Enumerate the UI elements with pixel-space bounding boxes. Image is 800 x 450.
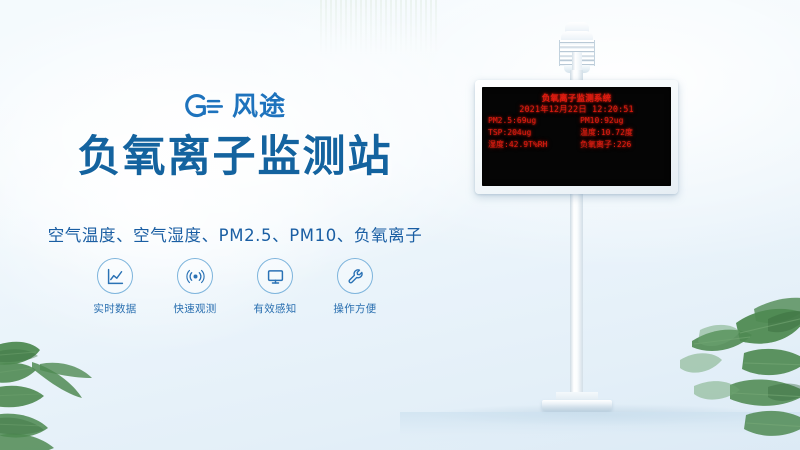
led-reading-row: PM2.5:69ug PM10:92ug (488, 117, 665, 125)
feature-label: 操作方便 (333, 301, 376, 316)
led-reading-negative-ion: 负氧离子:226 (580, 141, 665, 149)
wrench-icon (346, 267, 365, 286)
led-reading-row: 湿度:42.9T%RH 负氧离子:226 (488, 141, 665, 149)
page-title: 负氧离子监测站 (0, 133, 470, 181)
led-reading-row: TSP:204ug 温度:10.72度 (488, 129, 665, 137)
led-screen: 负氧离子监测系统 2021年12月22日 12:20:51 PM2.5:69ug… (482, 87, 671, 186)
feature-item-realtime-data[interactable]: 实时数据 (87, 258, 143, 316)
hero-text-panel: 风途 负氧离子监测站 空气温度、空气湿度、PM2.5、PM10、负氧离子 实时数… (0, 0, 470, 450)
led-reading-pm10: PM10:92ug (580, 117, 665, 125)
feature-item-fast-observation[interactable]: 快速观测 (167, 258, 223, 316)
monitoring-station: 负氧离子监测系统 2021年12月22日 12:20:51 PM2.5:69ug… (430, 0, 800, 450)
monitor-icon (266, 267, 285, 286)
feature-label: 实时数据 (93, 301, 136, 316)
feature-item-effective-sensing[interactable]: 有效感知 (247, 258, 303, 316)
feature-icon-circle (177, 258, 213, 294)
led-reading-humidity: 湿度:42.9T%RH (488, 141, 580, 149)
led-reading-temperature: 温度:10.72度 (580, 129, 665, 137)
feature-icon-circle (257, 258, 293, 294)
line-chart-icon (106, 267, 125, 286)
led-reading-tsp: TSP:204ug (488, 129, 580, 137)
brand-logo: 风途 (0, 93, 470, 121)
signal-radar-icon (186, 267, 205, 286)
feature-label: 快速观测 (173, 301, 216, 316)
led-display-panel[interactable]: 负氧离子监测系统 2021年12月22日 12:20:51 PM2.5:69ug… (475, 80, 678, 194)
feature-label: 有效感知 (253, 301, 296, 316)
feature-list: 实时数据 快速观测 (0, 258, 470, 316)
feature-item-easy-operation[interactable]: 操作方便 (327, 258, 383, 316)
wind-swirl-logo-icon (184, 93, 224, 121)
feature-icon-circle (97, 258, 133, 294)
brand-name: 风途 (232, 94, 286, 120)
ground-surface (400, 412, 800, 450)
led-reading-pm25: PM2.5:69ug (488, 117, 580, 125)
feature-icon-circle (337, 258, 373, 294)
led-datetime: 2021年12月22日 12:20:51 (482, 103, 671, 115)
poster-scene: 风途 负氧离子监测站 空气温度、空气湿度、PM2.5、PM10、负氧离子 实时数… (0, 0, 800, 450)
hero-subtitle: 空气温度、空气湿度、PM2.5、PM10、负氧离子 (0, 222, 470, 246)
